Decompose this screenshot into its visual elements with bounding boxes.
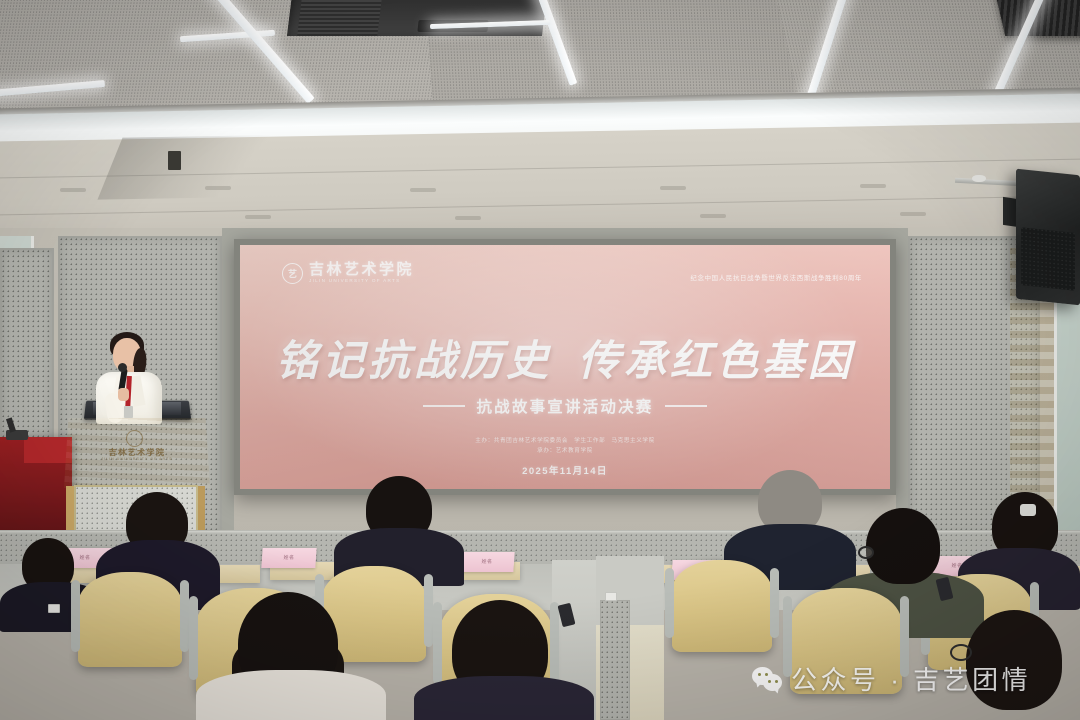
organizer-line-1: 主办：共青团吉林艺术学院委员会 学生工作部 马克思主义学院: [240, 437, 890, 447]
name-placard: 姓名: [261, 548, 316, 568]
watermark: 公众号 · 吉艺团情: [752, 660, 1031, 697]
wechat-eye: [765, 673, 768, 676]
microphone-head: [118, 363, 127, 372]
slide-subtitle-text: 抗战故事宣讲活动决赛: [476, 395, 653, 417]
slide-title-right: 传承红色基因: [578, 339, 854, 385]
wall-mark: [410, 188, 436, 192]
red-table-top: [24, 437, 72, 463]
wall-vent: [168, 151, 181, 170]
podium-name-en: JILIN UNIVERSITY OF ARTS: [78, 457, 196, 461]
presenter-badge: [124, 406, 133, 418]
projection-screen-bezel: 艺 吉林艺术学院 JILIN UNIVERSITY OF ARTS 纪念中国人民…: [234, 239, 896, 495]
screen-frame-top: [222, 228, 908, 239]
wall-mark: [900, 212, 926, 216]
wall-outlet[interactable]: [48, 604, 60, 613]
hair-clip: [1020, 504, 1036, 516]
wall-mark: [660, 186, 686, 190]
eyeglasses-icon: [950, 644, 972, 661]
eyeglasses-icon: [858, 546, 874, 559]
wall-outlet[interactable]: [605, 592, 617, 601]
presenter-hand: [118, 388, 129, 401]
wechat-eye: [758, 673, 761, 676]
screen-frame-left: [222, 228, 234, 540]
aisle-perforated-panel: [600, 600, 630, 720]
wechat-eye: [775, 680, 778, 683]
subtitle-rule-left: [423, 405, 465, 407]
projection-screen: 艺 吉林艺术学院 JILIN UNIVERSITY OF ARTS 纪念中国人民…: [240, 245, 890, 489]
audience-head: [866, 508, 940, 584]
wall-shadow: [97, 134, 312, 199]
wall-mark: [60, 188, 86, 192]
auditorium-seat[interactable]: [672, 560, 772, 652]
podium-crest-icon: [126, 430, 143, 447]
university-logo-mark: 艺: [282, 263, 303, 284]
pa-speaker: [1016, 169, 1080, 306]
organizer-line-2: 承办：艺术教育学院: [240, 447, 890, 457]
wechat-bubble-small: [763, 674, 782, 691]
name-placard-text: 姓名: [459, 552, 514, 572]
name-placard: 姓名: [459, 552, 514, 572]
wall-mark: [205, 186, 231, 190]
wechat-icon: [752, 667, 782, 691]
projector-recess-grille: [297, 0, 383, 36]
auditorium-seat[interactable]: [78, 572, 182, 667]
slide-title-left: 铭记抗战历史: [276, 339, 552, 385]
watermark-text: 公众号 · 吉艺团情: [791, 660, 1031, 697]
wall-mark: [700, 214, 726, 218]
audience-shoulders: [196, 670, 386, 720]
wall-mark: [455, 216, 481, 220]
slide-main-title: 铭记抗战历史传承红色基因: [240, 327, 890, 388]
university-name-cn: 吉林艺术学院: [309, 263, 414, 279]
smoke-detector-icon: [972, 175, 986, 182]
anniversary-banner-text: 纪念中国人民抗日战争暨世界反法西斯战争胜利80周年: [690, 273, 862, 282]
name-placard-text: 姓名: [261, 548, 316, 568]
subtitle-rule-right: [665, 405, 707, 407]
slide-subtitle: 抗战故事宣讲活动决赛: [240, 395, 890, 417]
wall-mark: [245, 215, 271, 219]
audience-shoulders: [414, 676, 594, 720]
wechat-eye: [768, 680, 771, 683]
slide-organizers: 主办：共青团吉林艺术学院委员会 学生工作部 马克思主义学院 承办：艺术教育学院: [240, 437, 890, 456]
slide-university-logo: 艺 吉林艺术学院 JILIN UNIVERSITY OF ARTS: [282, 263, 414, 284]
photo-scene: 艺 吉林艺术学院 JILIN UNIVERSITY OF ARTS 纪念中国人民…: [0, 0, 1080, 720]
logo-mark-char: 艺: [288, 267, 297, 280]
university-name-en: JILIN UNIVERSITY OF ARTS: [309, 279, 414, 284]
screen-frame-right: [896, 228, 908, 540]
wall-mark: [860, 184, 886, 188]
